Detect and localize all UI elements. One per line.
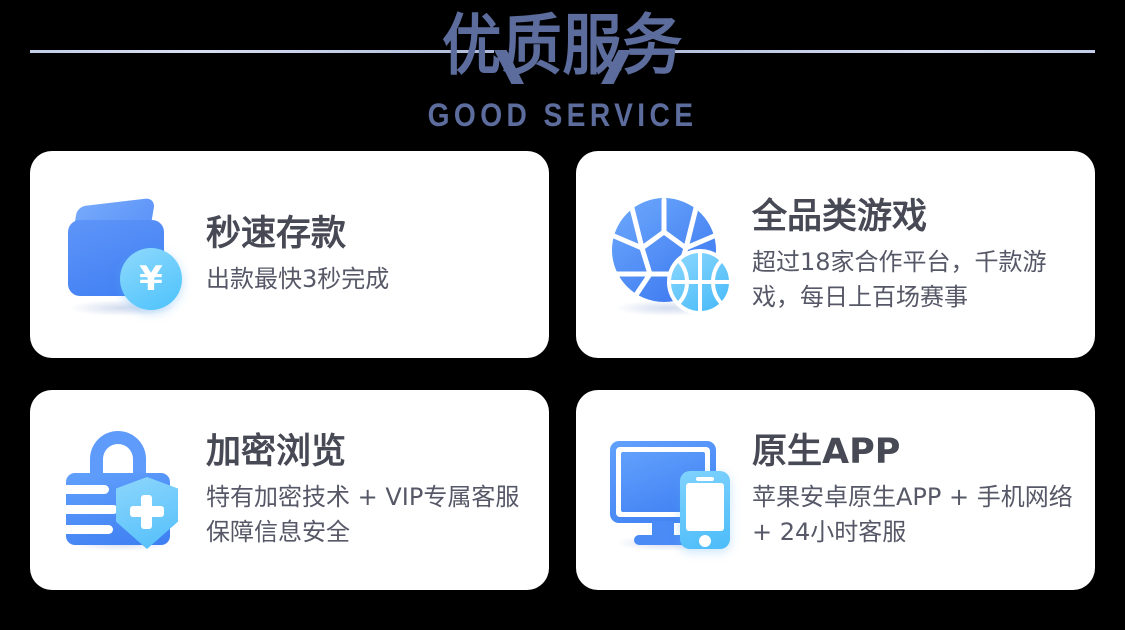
yuan-coin-icon: ¥ [120,248,182,310]
page-header: 优质服务 GOOD SERVICE [0,0,1125,146]
monitor-phone-icon [602,425,742,555]
card-title: 秒速存款 [206,212,531,256]
lock-shield-icon [56,425,196,555]
card-description: 出款最快3秒完成 [206,262,531,297]
lock-slot-icon [66,485,109,494]
ball-graphic [610,196,732,314]
feature-card-deposit[interactable]: ¥ 秒速存款 出款最快3秒完成 [30,151,549,358]
page-subtitle: GOOD SERVICE [68,96,1058,134]
yuan-symbol: ¥ [139,262,163,296]
feature-card-native-app[interactable]: 原生APP 苹果安卓原生APP + 手机网络 + 24小时客服 [576,390,1095,590]
phone-screen-icon [686,483,724,531]
card-description: 超过18家合作平台，千款游戏，每日上百场赛事 [752,245,1077,315]
lock-slot-icon [66,525,113,534]
card-text-block: 全品类游戏 超过18家合作平台，千款游戏，每日上百场赛事 [752,195,1077,315]
card-title: 原生APP [752,430,1077,474]
card-text-block: 秒速存款 出款最快3秒完成 [206,212,531,297]
card-description: 特有加密技术 + VIP专属客服保障信息安全 [206,480,531,550]
feature-card-grid: ¥ 秒速存款 出款最快3秒完成 [30,151,1095,590]
soccer-ball-icon [610,196,732,314]
plus-icon [141,495,152,529]
page-title: 优质服务 [56,6,1069,86]
wallet-yuan-icon: ¥ [56,190,196,320]
phone-speaker-icon [696,477,714,481]
card-text-block: 原生APP 苹果安卓原生APP + 手机网络 + 24小时客服 [752,430,1077,550]
card-title: 全品类游戏 [752,195,1077,239]
card-description: 苹果安卓原生APP + 手机网络 + 24小时客服 [752,480,1077,550]
feature-card-games[interactable]: 全品类游戏 超过18家合作平台，千款游戏，每日上百场赛事 [576,151,1095,358]
card-text-block: 加密浏览 特有加密技术 + VIP专属客服保障信息安全 [206,430,531,550]
phone-home-button-icon [699,535,711,547]
card-title: 加密浏览 [206,430,531,474]
soccer-basketball-icon [602,190,742,320]
lock-slot-icon [66,505,118,514]
feature-card-encryption[interactable]: 加密浏览 特有加密技术 + VIP专属客服保障信息安全 [30,390,549,590]
